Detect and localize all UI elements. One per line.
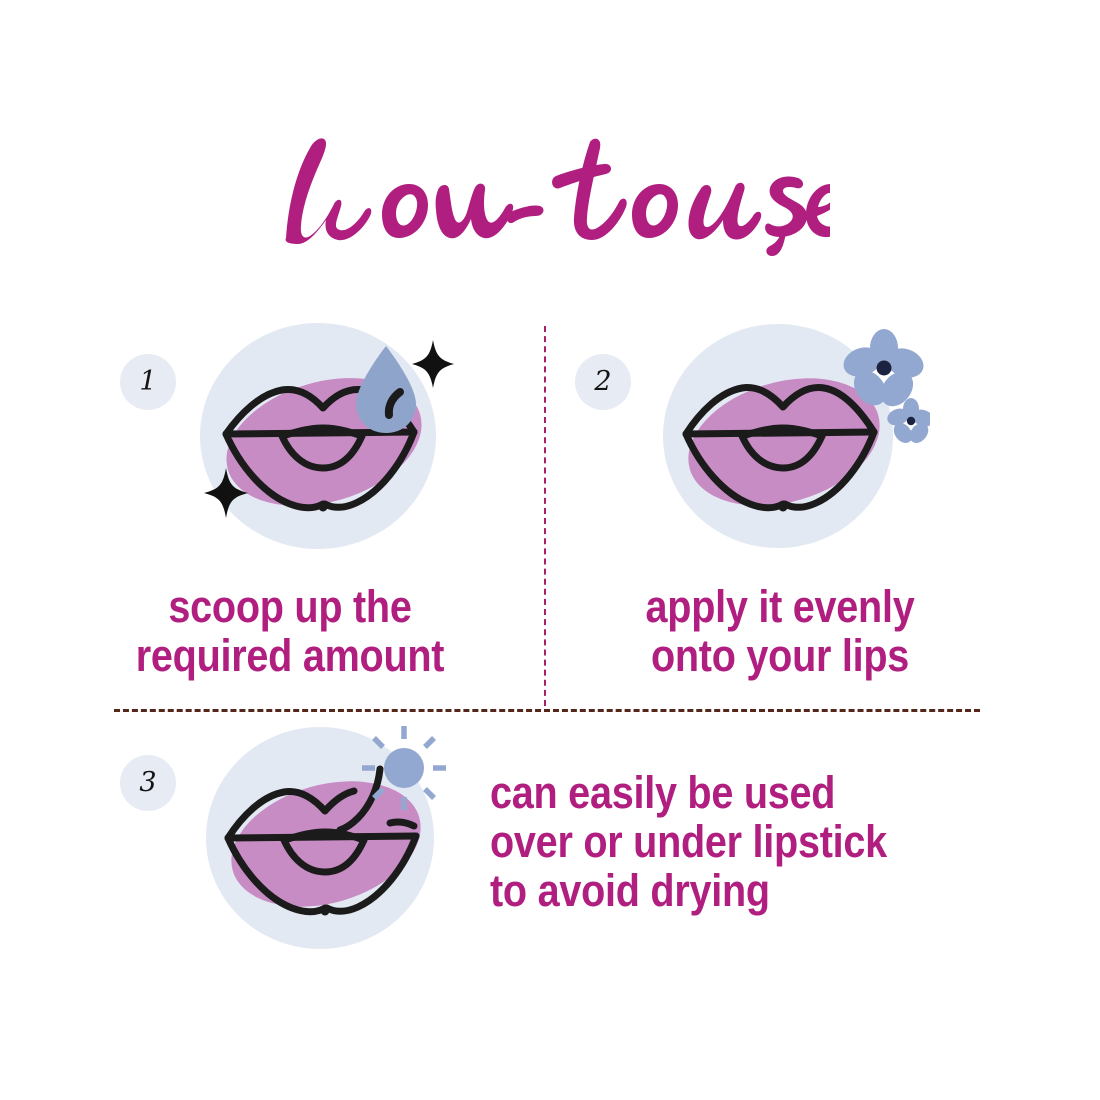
lips-with-flowers-graphic <box>640 318 930 568</box>
chin-dot <box>319 503 328 512</box>
lips-with-sun-graphic <box>182 722 472 957</box>
step-1-illustration <box>178 318 468 573</box>
page-title <box>0 128 1100 258</box>
lips-with-drop-graphic <box>178 318 468 568</box>
step-number-badge-2: 2 <box>575 354 631 410</box>
chin-dot <box>779 503 788 512</box>
vertical-divider <box>544 326 546 706</box>
step-number-1: 1 <box>139 368 156 395</box>
step-2-illustration <box>640 318 930 573</box>
step-3-caption: can easily be used over or under lipstic… <box>490 768 948 915</box>
horizontal-divider <box>114 709 980 712</box>
infographic-page: 1 <box>0 0 1100 1100</box>
step-3-illustration <box>182 722 472 962</box>
step-number-2: 2 <box>594 368 611 395</box>
step-number-badge-1: 1 <box>120 354 176 410</box>
step-number-3: 3 <box>139 769 156 796</box>
step-number-badge-3: 3 <box>120 755 176 811</box>
chin-dot <box>321 907 330 916</box>
step-2-caption: apply it evenly onto your lips <box>604 582 956 680</box>
step-1-caption: scoop up the required amount <box>88 582 493 680</box>
sun-icon <box>362 726 446 810</box>
page-title-script <box>270 128 830 258</box>
